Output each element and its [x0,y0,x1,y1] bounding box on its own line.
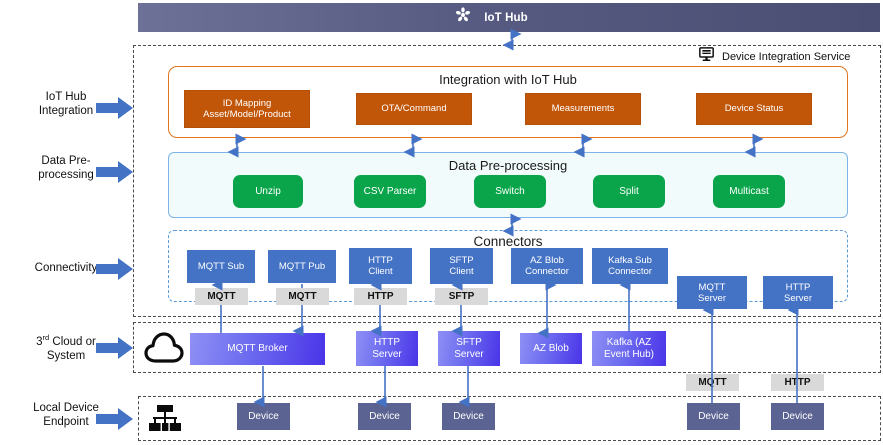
integration-box-line1: Measurements [552,103,615,115]
protocol-tag-mqtt-sub: MQTT [195,288,248,305]
iot-hub-asterisk-icon [454,6,472,29]
device-protocol-tag-mqtt: MQTT [686,374,739,391]
cloud-box-sftp-server[interactable]: SFTP Server [438,331,500,366]
protocol-tag-label: SFTP [449,291,475,302]
connector-box-line1: HTTP [784,282,812,293]
preprocessing-box-label: Unzip [255,186,281,198]
preprocessing-panel-title: Data Pre-processing [169,158,847,173]
row-arrow-third-cloud-or-system [96,337,134,359]
device-box-5[interactable]: Device [771,403,824,430]
cloud-icon [143,331,185,370]
connector-box-mqtt-pub[interactable]: MQTT Pub [268,250,336,283]
connector-box-line2: Server [698,293,726,304]
cloud-box-line1: HTTP [372,337,401,349]
device-protocol-tag-http: HTTP [771,374,824,391]
integration-box-line1: OTA/Command [381,103,446,115]
connectors-panel-title: Connectors [169,234,847,249]
architecture-diagram: IoT Hub Device Integration Service IoT H… [0,0,883,445]
device-box-label: Device [698,411,729,422]
device-box-label: Device [453,411,484,422]
row-label-suffix: Cloud or [49,336,96,348]
connector-box-sftp-client[interactable]: SFTP Client [430,248,493,284]
preprocessing-box-csv-parser[interactable]: CSV Parser [354,175,426,208]
integration-box-ota-command[interactable]: OTA/Command [356,93,472,125]
integration-box-line1: ID Mapping [203,98,291,110]
cloud-box-line2: Server [372,349,401,361]
network-topology-icon [148,404,182,439]
connector-box-line2: Client [449,266,473,277]
row-arrow-data-pre-processing [96,161,134,183]
connector-box-line1: Kafka Sub [608,255,652,266]
device-box-2[interactable]: Device [358,403,411,430]
cloud-box-line2: Server [454,349,483,361]
connector-box-http-client[interactable]: HTTP Client [349,248,412,284]
connector-box-mqtt-sub[interactable]: MQTT Sub [187,250,255,283]
cloud-box-line2: Event Hub) [604,349,654,361]
connector-box-line2: Connector [608,266,652,277]
device-box-4[interactable]: Device [687,403,740,430]
preprocessing-box-unzip[interactable]: Unzip [233,175,303,208]
connector-box-az-blob-connector[interactable]: AZ Blob Connector [511,248,583,284]
device-integration-service-label: Device Integration Service [722,51,850,63]
device-monitor-icon [698,47,715,67]
integration-box-device-status[interactable]: Device Status [696,93,812,125]
cloud-box-line1: Kafka (AZ [604,337,654,349]
device-box-1[interactable]: Device [237,403,290,430]
connector-box-line1: MQTT Pub [279,261,325,272]
protocol-tag-label: MQTT [207,291,235,302]
preprocessing-box-label: CSV Parser [364,186,417,198]
cloud-box-http-server[interactable]: HTTP Server [356,331,418,366]
preprocessing-box-switch[interactable]: Switch [474,175,546,208]
row-arrow-local-device-endpoint [96,408,134,430]
protocol-tag-label: HTTP [784,377,810,388]
preprocessing-box-label: Multicast [729,186,768,198]
connector-box-line2: Client [368,266,393,277]
preprocessing-box-multicast[interactable]: Multicast [713,175,785,208]
cloud-box-line1: MQTT Broker [227,343,287,355]
integration-box-id-mapping[interactable]: ID Mapping Asset/Model/Product [184,90,310,128]
cloud-box-line1: SFTP [454,337,483,349]
preprocessing-box-label: Switch [495,186,524,198]
device-box-label: Device [782,411,813,422]
protocol-tag-label: HTTP [367,291,393,302]
connector-box-line2: Server [784,293,812,304]
iot-hub-title: IoT Hub [484,12,528,24]
integration-panel-title: Integration with IoT Hub [169,72,847,87]
protocol-tag-sftp: SFTP [435,288,488,305]
integration-box-line1: Device Status [725,103,784,115]
connector-box-line1: MQTT [698,282,726,293]
connector-box-line1: AZ Blob [525,255,569,266]
integration-box-measurements[interactable]: Measurements [525,93,641,125]
connector-box-line1: MQTT Sub [198,261,244,272]
protocol-tag-label: MQTT [698,377,726,388]
integration-box-line2: Asset/Model/Product [203,109,291,121]
cloud-box-az-blob[interactable]: AZ Blob [520,333,582,364]
connector-box-line2: Connector [525,266,569,277]
row-arrow-connectivity [96,258,134,280]
connector-box-http-server[interactable]: HTTP Server [763,276,833,309]
preprocessing-box-split[interactable]: Split [593,175,665,208]
iot-hub-header-bar: IoT Hub [138,3,880,32]
protocol-tag-label: MQTT [288,291,316,302]
cloud-box-line1: AZ Blob [533,343,569,355]
row-arrow-iot-hub-integration [96,97,134,119]
device-box-label: Device [369,411,400,422]
protocol-tag-mqtt-pub: MQTT [276,288,329,305]
cloud-box-mqtt-broker[interactable]: MQTT Broker [190,333,325,365]
preprocessing-box-label: Split [619,186,638,198]
device-box-3[interactable]: Device [442,403,495,430]
device-integration-service-caption: Device Integration Service [698,48,878,66]
connector-box-mqtt-server[interactable]: MQTT Server [677,276,747,309]
cloud-box-kafka-az-event-hub[interactable]: Kafka (AZ Event Hub) [592,331,666,366]
connector-box-kafka-sub-connector[interactable]: Kafka Sub Connector [592,248,668,284]
protocol-tag-http: HTTP [354,288,407,305]
device-box-label: Device [248,411,279,422]
connector-box-line1: SFTP [449,255,473,266]
connector-box-line1: HTTP [368,255,393,266]
